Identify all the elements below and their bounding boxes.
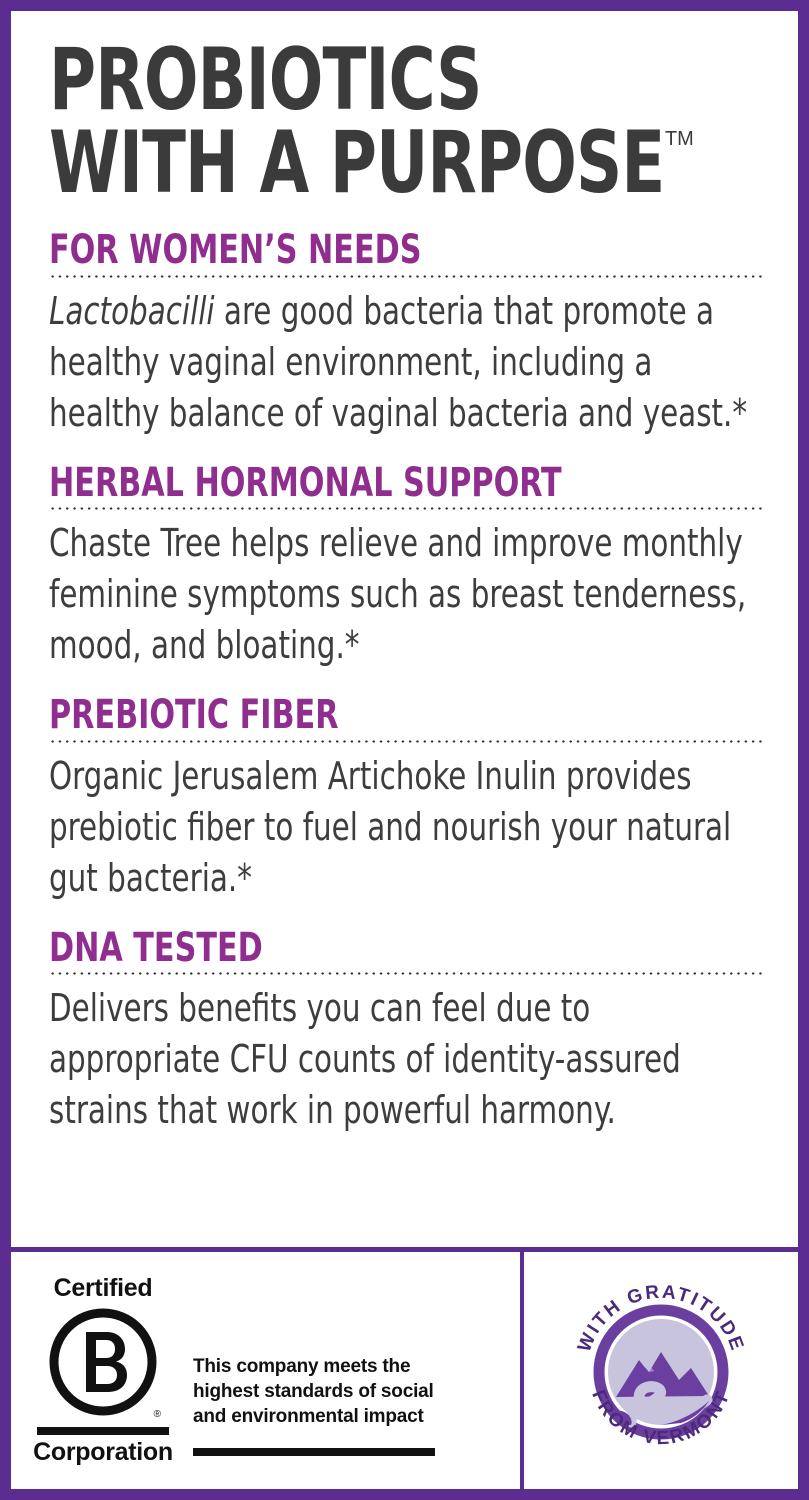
section-for-womens-needs: FOR WOMEN’S NEEDS Lactobacilli are good …	[49, 230, 772, 439]
bcorp-rule-left	[37, 1427, 169, 1435]
registered-mark-icon: ®	[154, 1409, 161, 1420]
section-body: Chaste Tree helps relieve and improve mo…	[49, 518, 770, 671]
section-body: Organic Jerusalem Artichoke Inulin provi…	[49, 751, 770, 904]
section-heading: FOR WOMEN’S NEEDS	[49, 230, 656, 272]
section-prebiotic-fiber: PREBIOTIC FIBER Organic Jerusalem Artich…	[49, 695, 772, 904]
section-dna-tested: DNA TESTED Delivers benefits you can fee…	[49, 928, 772, 1137]
vermont-cell: WITH GRATITUDE FROM VERMONT	[524, 1252, 798, 1489]
certification-strip: Certified ® Corporation This company mee…	[11, 1247, 798, 1489]
bcorp-tagline-line-3: and environmental impact	[193, 1404, 435, 1429]
bcorp-cell: Certified ® Corporation This company mee…	[11, 1252, 524, 1489]
bcorp-circle-b-icon: ®	[48, 1307, 158, 1422]
dotted-divider	[49, 275, 765, 278]
bcorp-mark-stack: Certified ® Corporation	[33, 1276, 173, 1465]
bcorp-tagline-line-2: highest standards of social	[193, 1379, 435, 1404]
bcorp-rule-right	[193, 1448, 435, 1456]
footnote-asterisk: *	[732, 391, 747, 435]
label-main-panel: PROBIOTICS WITH A PURPOSETM FOR WOMEN’S …	[11, 11, 798, 1247]
dotted-divider	[49, 740, 765, 743]
section-body-text: Delivers benefits you can feel due to ap…	[49, 986, 681, 1132]
bcorp-tagline-block: This company meets the highest standards…	[193, 1276, 435, 1456]
footnote-asterisk: *	[345, 623, 360, 667]
bcorp-b-svg	[48, 1307, 158, 1417]
bcorp-certified-label: Certified	[54, 1276, 153, 1301]
dotted-divider	[49, 507, 765, 510]
section-body: Delivers benefits you can feel due to ap…	[49, 983, 770, 1136]
footnote-asterisk: *	[237, 856, 252, 900]
trademark-icon: TM	[665, 130, 694, 149]
with-gratitude-from-vermont-seal-icon: WITH GRATITUDE FROM VERMONT	[561, 1272, 761, 1472]
section-body-text: Chaste Tree helps relieve and improve mo…	[49, 521, 746, 667]
title-line-2-wrapper: WITH A PURPOSETM	[49, 122, 688, 205]
section-herbal-hormonal-support: HERBAL HORMONAL SUPPORT Chaste Tree help…	[49, 463, 772, 672]
title-line-1: PROBIOTICS	[49, 39, 649, 122]
section-body-italic: Lactobacilli	[49, 289, 215, 333]
section-heading: PREBIOTIC FIBER	[49, 695, 656, 737]
product-label: PROBIOTICS WITH A PURPOSETM FOR WOMEN’S …	[0, 0, 809, 1500]
section-heading: HERBAL HORMONAL SUPPORT	[49, 463, 656, 505]
section-body-text: Organic Jerusalem Artichoke Inulin provi…	[49, 754, 731, 900]
bcorp-corporation-label: Corporation	[33, 1440, 173, 1465]
bcorp-logo: Certified ® Corporation This company mee…	[33, 1276, 435, 1465]
section-heading: DNA TESTED	[49, 928, 656, 970]
dotted-divider	[49, 972, 765, 975]
section-body: Lactobacilli are good bacteria that prom…	[49, 286, 770, 439]
bcorp-tagline-line-1: This company meets the	[193, 1354, 435, 1379]
product-title: PROBIOTICS WITH A PURPOSETM	[49, 39, 772, 204]
title-line-2: WITH A PURPOSE	[49, 113, 664, 213]
